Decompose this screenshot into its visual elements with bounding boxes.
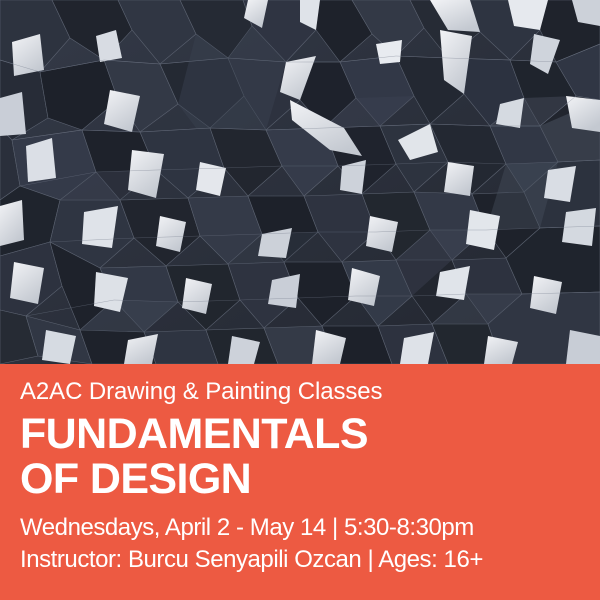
class-promo-poster: A2AC Drawing & Painting Classes FUNDAMEN… bbox=[0, 0, 600, 600]
caption-panel: A2AC Drawing & Painting Classes FUNDAMEN… bbox=[0, 364, 600, 600]
program-kicker: A2AC Drawing & Painting Classes bbox=[20, 378, 582, 405]
course-title-line-1: FUNDAMENTALS bbox=[20, 410, 368, 458]
instructor-ages-line: Instructor: Burcu Senyapili Ozcan | Ages… bbox=[20, 544, 582, 576]
course-title: FUNDAMENTALS OF DESIGN bbox=[20, 412, 582, 502]
faceted-pattern-svg bbox=[0, 0, 600, 364]
hero-artwork bbox=[0, 0, 600, 364]
schedule-line: Wednesdays, April 2 - May 14 | 5:30-8:30… bbox=[20, 512, 582, 544]
course-title-line-2: OF DESIGN bbox=[20, 457, 582, 502]
